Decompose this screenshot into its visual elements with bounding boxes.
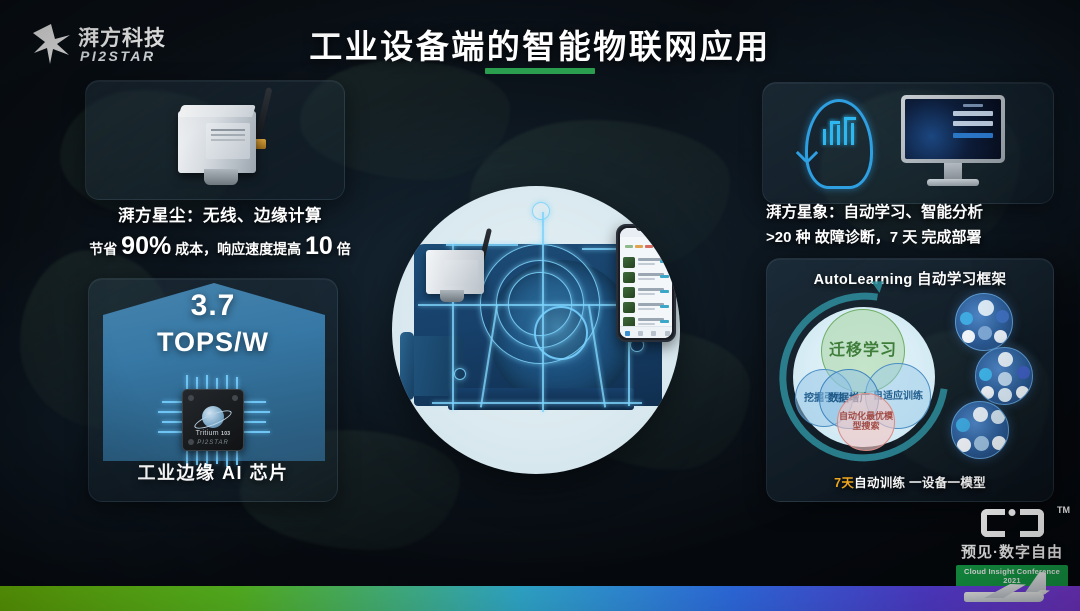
cie-trademark: TM	[1057, 505, 1070, 515]
model-thumbnail	[975, 347, 1033, 405]
chip-illustration: Tritium 103 PI2STAR	[148, 375, 278, 467]
model-thumbnails	[951, 293, 1047, 463]
bottom-gradient-bar	[0, 586, 1080, 611]
desktop-monitor-icon	[901, 95, 1005, 191]
model-thumbnail	[955, 293, 1013, 351]
ai-brain-head-icon	[805, 99, 873, 189]
autolearning-title: AutoLearning 自动学习框架	[767, 268, 1053, 289]
model-thumbnail	[951, 401, 1009, 459]
ai-chip-panel: 3.7 TOPS/W	[88, 278, 338, 502]
mounted-sensor	[422, 238, 508, 302]
left-caption: 湃方星尘：无线、边缘计算 节省 90% 成本，响应速度提高 10 倍	[70, 202, 370, 261]
chip-tops-unit: TOPS/W	[89, 327, 337, 358]
slide-root: 湃方科技 PI2STAR 工业设备端的智能物联网应用 湃方星尘：无线、边缘计算 …	[0, 0, 1080, 611]
speed-multiplier-value: 10	[305, 232, 333, 260]
conference-logo: TM 预见·数字自由 Cloud Insight Conference 2021	[956, 507, 1068, 573]
wireless-sensor-icon	[178, 103, 288, 187]
central-equipment-visual	[392, 186, 680, 474]
chip-die-brand: PI2STAR	[183, 440, 243, 446]
savings-value: 90%	[121, 232, 171, 260]
autolearning-footer: 7天自动训练 一设备一模型	[767, 472, 1053, 491]
autolearning-panel: AutoLearning 自动学习框架 迁移学习 自适应训练 挖掘引擎 数据增广…	[766, 258, 1054, 502]
chip-tops-value: 3.7	[89, 289, 337, 323]
left-caption-post: 倍	[337, 241, 351, 257]
sensor-photo-panel	[85, 80, 345, 200]
left-caption-line1: 湃方星尘：无线、边缘计算	[70, 202, 370, 226]
left-caption-pre: 节省	[89, 241, 117, 257]
autolearning-days-highlight: 7天	[834, 476, 854, 490]
right-caption-line2: >20 种 故障诊断，7 天 完成部署	[766, 226, 1066, 247]
cie-slogan-cn: 预见·数字自由	[956, 541, 1068, 562]
right-caption-line1: 湃方星象：自动学习、智能分析	[766, 200, 1066, 222]
chip-die: Tritium 103 PI2STAR	[182, 389, 244, 451]
page-title: 工业设备端的智能物联网应用	[0, 20, 1080, 68]
ai-platform-panel	[762, 82, 1054, 204]
cie-mark-icon: TM	[956, 507, 1068, 539]
airplane-icon	[958, 574, 1054, 611]
mobile-app-preview	[616, 224, 676, 342]
title-underline	[485, 68, 595, 74]
chip-caption: 工业边缘 AI 芯片	[89, 459, 337, 485]
chip-die-label: Tritium 103	[183, 430, 243, 437]
left-caption-mid: 成本，响应速度提高	[175, 241, 301, 257]
autolearning-footer-text: 自动训练 一设备一模型	[854, 476, 986, 490]
autolearning-venn-diagram: 迁移学习 自适应训练 挖掘引擎 数据增广 自动化最优模型搜索	[779, 293, 949, 461]
left-caption-line2: 节省 90% 成本，响应速度提高 10 倍	[70, 232, 370, 261]
venn-automl-search: 自动化最优模型搜索	[837, 393, 895, 451]
right-caption: 湃方星象：自动学习、智能分析 >20 种 故障诊断，7 天 完成部署	[766, 200, 1066, 247]
